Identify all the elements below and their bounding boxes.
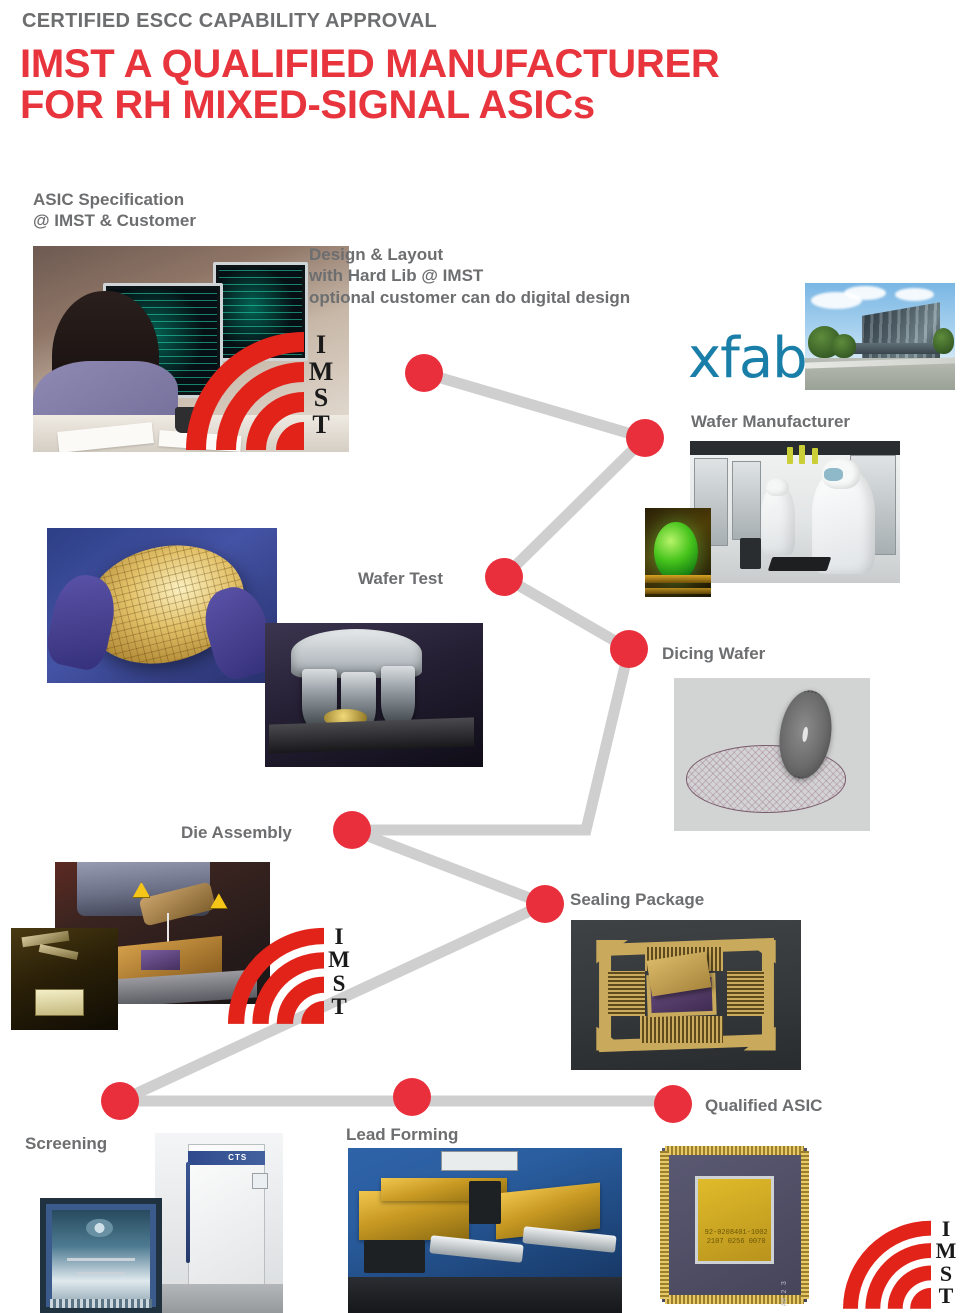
node-lead-forming[interactable]: [393, 1078, 431, 1116]
label-asic-specification: ASIC Specification @ IMST & Customer: [33, 189, 196, 232]
node-screening[interactable]: [101, 1082, 139, 1120]
label-sealing-package: Sealing Package: [570, 889, 704, 910]
label-lead-forming: Lead Forming: [346, 1124, 458, 1145]
node-design-layout[interactable]: [405, 354, 443, 392]
node-wafer-manufacturer[interactable]: [626, 419, 664, 457]
label-die-assembly: Die Assembly: [181, 822, 292, 843]
label-wafer-manufacturer: Wafer Manufacturer: [691, 411, 850, 432]
label-dicing-wafer: Dicing Wafer: [662, 643, 765, 664]
node-dicing-wafer[interactable]: [610, 630, 648, 668]
label-design-layout: Design & Layout with Hard Lib @ IMST opt…: [309, 244, 630, 308]
label-qualified-asic: Qualified ASIC: [705, 1095, 822, 1116]
node-die-assembly[interactable]: [333, 811, 371, 849]
label-screening: Screening: [25, 1133, 107, 1154]
node-wafer-test[interactable]: [485, 558, 523, 596]
label-wafer-test: Wafer Test: [358, 568, 443, 589]
node-sealing-package[interactable]: [526, 885, 564, 923]
node-qualified-asic[interactable]: [654, 1085, 692, 1123]
infographic-page: CERTIFIED ESCC CAPABILITY APPROVAL IMST …: [0, 0, 960, 1313]
